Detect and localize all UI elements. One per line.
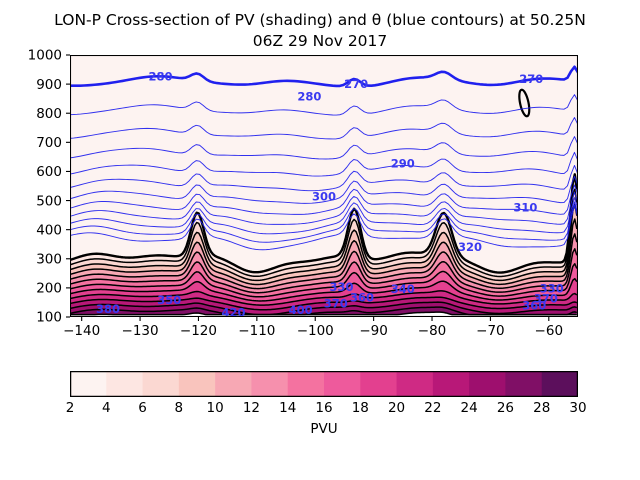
y-tick-label: 100 bbox=[36, 310, 62, 326]
colorbar-band bbox=[360, 371, 397, 397]
colorbar-band bbox=[542, 371, 578, 397]
x-tick-label: −60 bbox=[535, 323, 564, 339]
colorbar-tick-label: 10 bbox=[207, 400, 224, 416]
y-tick-label: 1000 bbox=[28, 48, 62, 64]
x-tick-label: −110 bbox=[238, 323, 275, 339]
colorbar-band bbox=[179, 371, 216, 397]
colorbar-tick-label: 8 bbox=[175, 400, 184, 416]
colorbar-band bbox=[215, 371, 252, 397]
colorbar-band bbox=[397, 371, 434, 397]
x-tick-label: −140 bbox=[63, 323, 100, 339]
y-tick-label: 200 bbox=[36, 281, 62, 297]
y-tick-label: 500 bbox=[36, 193, 62, 209]
colorbar-band bbox=[324, 371, 361, 397]
colorbar-labels: 24681012141618202224262830PVU bbox=[0, 397, 640, 457]
x-tick-label: −80 bbox=[418, 323, 447, 339]
x-tick-label: −130 bbox=[122, 323, 159, 339]
colorbar-band bbox=[433, 371, 470, 397]
colorbar bbox=[70, 371, 578, 397]
colorbar-tick-label: 6 bbox=[138, 400, 147, 416]
y-tick-label: 900 bbox=[36, 77, 62, 93]
colorbar-band bbox=[106, 371, 143, 397]
y-tick-label: 700 bbox=[36, 135, 62, 151]
x-tick-label: −100 bbox=[297, 323, 334, 339]
colorbar-axis-label: PVU bbox=[310, 421, 337, 437]
colorbar-tick-label: 2 bbox=[66, 400, 75, 416]
colorbar-tick-label: 26 bbox=[497, 400, 514, 416]
colorbar-tick-label: 12 bbox=[243, 400, 260, 416]
colorbar-band bbox=[288, 371, 325, 397]
axes-labels: −140−130−120−110−100−90−80−70−6010020030… bbox=[0, 0, 640, 360]
x-tick-label: −120 bbox=[180, 323, 217, 339]
y-tick-label: 300 bbox=[36, 251, 62, 267]
colorbar-tick-label: 20 bbox=[388, 400, 405, 416]
y-tick-label: 600 bbox=[36, 164, 62, 180]
y-tick-label: 800 bbox=[36, 106, 62, 122]
colorbar-band bbox=[505, 371, 542, 397]
colorbar-tick-label: 14 bbox=[279, 400, 296, 416]
colorbar-band bbox=[70, 371, 107, 397]
colorbar-tick-label: 28 bbox=[533, 400, 550, 416]
colorbar-tick-label: 4 bbox=[102, 400, 111, 416]
colorbar-band bbox=[251, 371, 288, 397]
colorbar-tick-label: 18 bbox=[352, 400, 369, 416]
figure: LON-P Cross-section of PV (shading) and … bbox=[0, 0, 640, 480]
x-tick-label: −90 bbox=[359, 323, 388, 339]
colorbar-swatches bbox=[70, 371, 578, 397]
colorbar-band bbox=[143, 371, 180, 397]
y-tick-label: 400 bbox=[36, 222, 62, 238]
colorbar-tick-label: 24 bbox=[461, 400, 478, 416]
colorbar-band bbox=[469, 371, 506, 397]
colorbar-tick-label: 30 bbox=[569, 400, 586, 416]
colorbar-tick-label: 22 bbox=[424, 400, 441, 416]
x-tick-label: −70 bbox=[476, 323, 505, 339]
colorbar-tick-label: 16 bbox=[315, 400, 332, 416]
